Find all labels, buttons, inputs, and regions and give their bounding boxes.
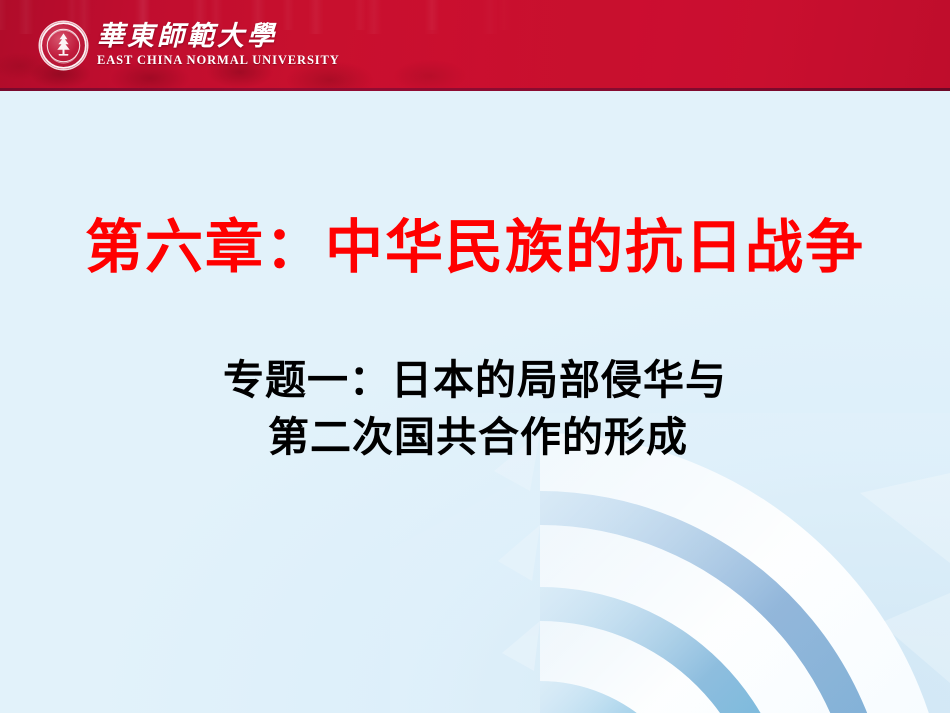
header-bottom-rule bbox=[0, 88, 950, 91]
slide-subtitle-line-1: 专题一：日本的局部侵华与 bbox=[0, 352, 950, 409]
university-seal-pine-tree-icon bbox=[40, 22, 87, 69]
university-name-cn: 華東師範大學 bbox=[97, 23, 340, 50]
university-name-en: EAST CHINA NORMAL UNIVERSITY bbox=[97, 54, 340, 67]
header-gradient-fade bbox=[330, 0, 630, 91]
presentation-slide: 華東師範大學 EAST CHINA NORMAL UNIVERSITY 第六章：… bbox=[0, 0, 950, 713]
slide-subtitle: 专题一：日本的局部侵华与 第二次国共合作的形成 bbox=[0, 352, 950, 465]
slide-subtitle-line-2: 第二次国共合作的形成 bbox=[0, 409, 950, 466]
slide-title: 第六章：中华民族的抗日战争 bbox=[0, 214, 950, 281]
university-logo: 華東師範大學 EAST CHINA NORMAL UNIVERSITY bbox=[40, 20, 340, 70]
header-band: 華東師範大學 EAST CHINA NORMAL UNIVERSITY bbox=[0, 0, 950, 91]
university-name-block: 華東師範大學 EAST CHINA NORMAL UNIVERSITY bbox=[97, 23, 340, 67]
